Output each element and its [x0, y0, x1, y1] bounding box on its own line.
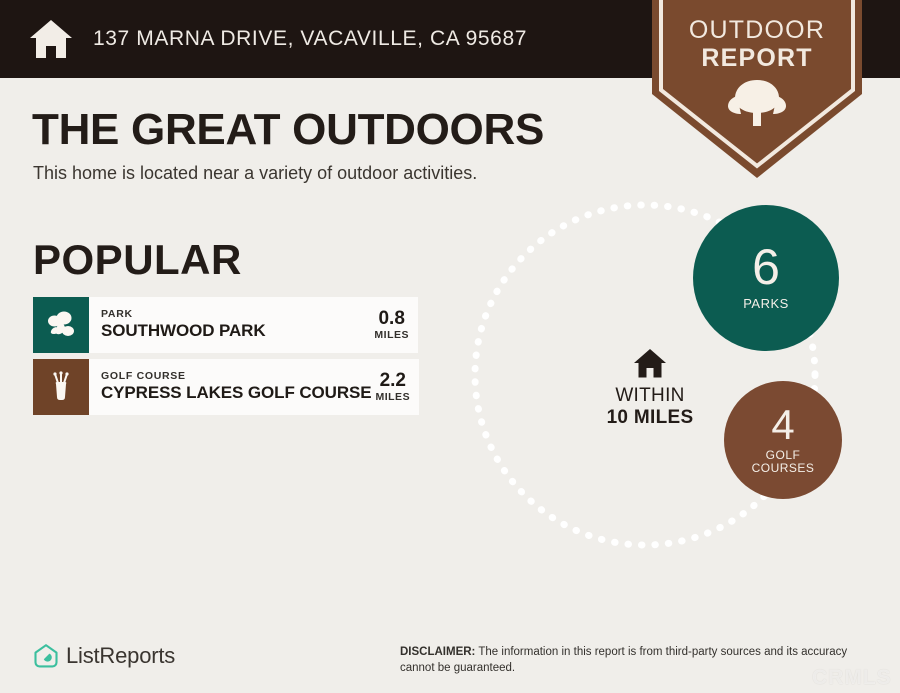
stat-label: PARKS: [743, 297, 789, 312]
stat-label-line1: GOLF: [752, 449, 815, 462]
page-subtitle: This home is located near a variety of o…: [33, 163, 477, 184]
listreports-logo-text: ListReports: [66, 643, 175, 669]
stat-circle-golf-courses[interactable]: 4 GOLF COURSES: [724, 381, 842, 499]
page-title: THE GREAT OUTDOORS: [32, 105, 544, 155]
property-address: 137 MARNA DRIVE, VACAVILLE, CA 95687: [93, 27, 527, 51]
stat-value: 4: [771, 405, 794, 445]
park-trees-icon: [33, 297, 89, 353]
stat-label: GOLF COURSES: [752, 449, 815, 476]
disclaimer-label: DISCLAIMER:: [400, 646, 475, 658]
golf-bag-icon: [33, 359, 89, 415]
within-label-line1: WITHIN: [570, 385, 730, 407]
home-icon: [570, 348, 730, 379]
list-item-name: SOUTHWOOD PARK: [101, 321, 370, 341]
distance-unit: MILES: [374, 329, 409, 341]
within-radius-block: WITHIN 10 MILES: [570, 348, 730, 429]
distance-unit: MILES: [375, 391, 410, 403]
distance-value: 2.2: [375, 371, 410, 391]
list-item-category: PARK: [101, 308, 370, 321]
stat-circle-parks[interactable]: 6 PARKS: [693, 205, 839, 351]
list-item-distance: 0.8 MILES: [370, 309, 409, 341]
list-item-category: GOLF COURSE: [101, 370, 371, 383]
stat-label-line2: COURSES: [752, 462, 815, 475]
listreports-house-icon: [33, 643, 59, 669]
home-icon: [0, 18, 74, 60]
listreports-logo[interactable]: ListReports: [33, 643, 175, 669]
distance-value: 0.8: [374, 309, 409, 329]
list-item[interactable]: GOLF COURSE CYPRESS LAKES GOLF COURSE 2.…: [33, 359, 418, 415]
popular-list: PARK SOUTHWOOD PARK 0.8 MILES GOLF C: [33, 297, 418, 421]
list-item-distance: 2.2 MILES: [371, 371, 410, 403]
outdoor-stats-infographic: 6 PARKS 4 GOLF COURSES WITHIN 10 MILES: [455, 185, 900, 575]
outdoor-report-badge: OUTDOOR REPORT: [652, 0, 862, 180]
crmls-watermark: CRMLS: [812, 666, 892, 690]
within-label-line2: 10 MILES: [570, 407, 730, 429]
popular-section-heading: POPULAR: [33, 236, 242, 284]
list-item-name: CYPRESS LAKES GOLF COURSE: [101, 383, 371, 403]
stat-value: 6: [752, 244, 780, 292]
list-item[interactable]: PARK SOUTHWOOD PARK 0.8 MILES: [33, 297, 418, 353]
disclaimer: DISCLAIMER: The information in this repo…: [400, 645, 870, 676]
